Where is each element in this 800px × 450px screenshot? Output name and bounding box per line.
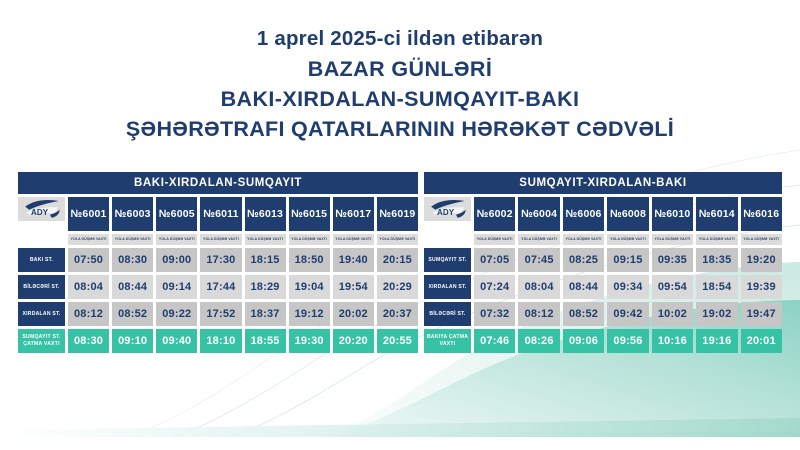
train-number: №6006 bbox=[563, 197, 604, 231]
arrival-time-cell: 19:16 bbox=[696, 329, 737, 353]
time-cell: 08:30 bbox=[112, 248, 153, 272]
time-cell: 08:44 bbox=[112, 275, 153, 299]
departure-label: YOLA DÜŞMƏ VAXTI bbox=[156, 234, 197, 245]
time-cell: 08:04 bbox=[518, 275, 559, 299]
time-cell: 18:15 bbox=[245, 248, 286, 272]
time-cell: 08:04 bbox=[68, 275, 109, 299]
time-cell: 09:34 bbox=[607, 275, 648, 299]
train-number: №6010 bbox=[652, 197, 693, 231]
arrival-label: SUMQAYIT ST. ÇATMA VAXTI bbox=[18, 329, 65, 353]
time-cell: 09:00 bbox=[156, 248, 197, 272]
train-col-0-left: №6001 YOLA DÜŞMƏ VAXTI bbox=[68, 197, 109, 245]
time-cell: 18:29 bbox=[245, 275, 286, 299]
departure-label: YOLA DÜŞMƏ VAXTI bbox=[652, 234, 693, 245]
train-col-2-right: №6006 YOLA DÜŞMƏ VAXTI bbox=[563, 197, 604, 245]
departure-label: YOLA DÜŞMƏ VAXTI bbox=[200, 234, 241, 245]
time-cell: 09:54 bbox=[652, 275, 693, 299]
arrival-time-cell: 18:10 bbox=[200, 329, 241, 353]
svg-text:ADY: ADY bbox=[436, 208, 454, 217]
time-cell: 19:47 bbox=[741, 302, 782, 326]
train-number: №6019 bbox=[377, 197, 418, 231]
time-cell: 18:54 bbox=[696, 275, 737, 299]
table-row: BAKI ST. 07:50 08:30 09:00 17:30 18:15 1… bbox=[18, 248, 418, 272]
table-row: BİLƏCƏRİ ST. 08:04 08:44 09:14 17:44 18:… bbox=[18, 275, 418, 299]
time-cell: 09:35 bbox=[652, 248, 693, 272]
train-number: №6008 bbox=[607, 197, 648, 231]
arrival-time-cell: 09:56 bbox=[607, 329, 648, 353]
table-header-row-right: ADY №6002 YOLA DÜŞMƏ VAXTI №6004 YOLA DÜ… bbox=[424, 197, 782, 245]
bottom-band bbox=[0, 418, 800, 437]
train-col-1-left: №6003 YOLA DÜŞMƏ VAXTI bbox=[112, 197, 153, 245]
table-header-row-left: ADY №6001 YOLA DÜŞMƏ VAXTI №6003 YOLA DÜ… bbox=[18, 197, 418, 245]
ady-logo-cell: ADY bbox=[18, 197, 65, 221]
table-row: BİLƏCƏRİ ST. 07:32 08:12 08:52 09:42 10:… bbox=[424, 302, 782, 326]
time-cell: 19:40 bbox=[333, 248, 374, 272]
time-cell: 09:22 bbox=[156, 302, 197, 326]
departure-label: YOLA DÜŞMƏ VAXTI bbox=[333, 234, 374, 245]
time-cell: 09:15 bbox=[607, 248, 648, 272]
time-cell: 08:25 bbox=[563, 248, 604, 272]
train-number: №6017 bbox=[333, 197, 374, 231]
time-cell: 08:52 bbox=[563, 302, 604, 326]
ady-logo-icon: ADY bbox=[22, 196, 62, 222]
table-grid-left: ADY №6001 YOLA DÜŞMƏ VAXTI №6003 YOLA DÜ… bbox=[18, 197, 418, 353]
departure-label: YOLA DÜŞMƏ VAXTI bbox=[289, 234, 330, 245]
departure-label: YOLA DÜŞMƏ VAXTI bbox=[245, 234, 286, 245]
station-label: BİLƏCƏRİ ST. bbox=[424, 302, 471, 326]
title-day-type: BAZAR GÜNLƏRİ bbox=[0, 54, 800, 84]
table-row: SUMQAYIT ST. 07:05 07:45 08:25 09:15 09:… bbox=[424, 248, 782, 272]
time-cell: 08:12 bbox=[518, 302, 559, 326]
schedule-table-baki-sumqayit: BAKI-XIRDALAN-SUMQAYIT ADY №6001 YOLA DÜ… bbox=[18, 172, 418, 353]
train-number: №6016 bbox=[741, 197, 782, 231]
table-row-arrival: SUMQAYIT ST. ÇATMA VAXTI 08:30 09:10 09:… bbox=[18, 329, 418, 353]
time-cell: 07:32 bbox=[474, 302, 515, 326]
station-label: XIRDALAN ST. bbox=[18, 302, 65, 326]
departure-label: YOLA DÜŞMƏ VAXTI bbox=[474, 234, 515, 245]
time-cell: 19:12 bbox=[289, 302, 330, 326]
departure-label: YOLA DÜŞMƏ VAXTI bbox=[377, 234, 418, 245]
arrival-time-cell: 20:20 bbox=[333, 329, 374, 353]
table-row: XIRDALAN ST. 07:24 08:04 08:44 09:34 09:… bbox=[424, 275, 782, 299]
time-cell: 17:52 bbox=[200, 302, 241, 326]
station-label: XIRDALAN ST. bbox=[424, 275, 471, 299]
time-cell: 09:42 bbox=[607, 302, 648, 326]
time-cell: 07:50 bbox=[68, 248, 109, 272]
train-number: №6002 bbox=[474, 197, 515, 231]
time-cell: 07:05 bbox=[474, 248, 515, 272]
time-cell: 07:45 bbox=[518, 248, 559, 272]
table-grid-right: ADY №6002 YOLA DÜŞMƏ VAXTI №6004 YOLA DÜ… bbox=[424, 197, 782, 353]
departure-label: YOLA DÜŞMƏ VAXTI bbox=[518, 234, 559, 245]
arrival-time-cell: 19:30 bbox=[289, 329, 330, 353]
arrival-time-cell: 07:46 bbox=[474, 329, 515, 353]
train-number: №6011 bbox=[200, 197, 241, 231]
title-effective-date: 1 aprel 2025-ci ildən etibarən bbox=[0, 26, 800, 52]
time-cell: 08:44 bbox=[563, 275, 604, 299]
table-row-arrival: BAKIYA ÇATMA VAXTI 07:46 08:26 09:06 09:… bbox=[424, 329, 782, 353]
time-cell: 10:02 bbox=[652, 302, 693, 326]
arrival-time-cell: 09:06 bbox=[563, 329, 604, 353]
departure-label: YOLA DÜŞMƏ VAXTI bbox=[112, 234, 153, 245]
time-cell: 19:39 bbox=[741, 275, 782, 299]
ady-logo-cell: ADY bbox=[424, 197, 471, 221]
svg-text:ADY: ADY bbox=[30, 208, 48, 217]
arrival-time-cell: 08:30 bbox=[68, 329, 109, 353]
time-cell: 18:35 bbox=[696, 248, 737, 272]
time-cell: 20:15 bbox=[377, 248, 418, 272]
time-cell: 18:37 bbox=[245, 302, 286, 326]
time-cell: 08:12 bbox=[68, 302, 109, 326]
departure-label: YOLA DÜŞMƏ VAXTI bbox=[68, 234, 109, 245]
train-col-5-right: №6014 YOLA DÜŞMƏ VAXTI bbox=[696, 197, 737, 245]
title-block: 1 aprel 2025-ci ildən etibarən BAZAR GÜN… bbox=[0, 26, 800, 144]
time-cell: 17:30 bbox=[200, 248, 241, 272]
departure-label: YOLA DÜŞMƏ VAXTI bbox=[696, 234, 737, 245]
station-label: BİLƏCƏRİ ST. bbox=[18, 275, 65, 299]
arrival-time-cell: 20:01 bbox=[741, 329, 782, 353]
train-col-0-right: №6002 YOLA DÜŞMƏ VAXTI bbox=[474, 197, 515, 245]
time-cell: 19:54 bbox=[333, 275, 374, 299]
arrival-time-cell: 09:40 bbox=[156, 329, 197, 353]
title-subject: ŞƏHƏRƏTRAFI QATARLARININ HƏRƏKƏT CƏDVƏLİ bbox=[0, 114, 800, 144]
arrival-time-cell: 08:26 bbox=[518, 329, 559, 353]
station-label: SUMQAYIT ST. bbox=[424, 248, 471, 272]
departure-label: YOLA DÜŞMƏ VAXTI bbox=[607, 234, 648, 245]
ady-logo-icon: ADY bbox=[428, 196, 468, 222]
departure-label: YOLA DÜŞMƏ VAXTI bbox=[741, 234, 782, 245]
train-number: №6005 bbox=[156, 197, 197, 231]
train-number: №6013 bbox=[245, 197, 286, 231]
table-header-sumqayit-baki: SUMQAYIT-XIRDALAN-BAKI bbox=[424, 172, 782, 194]
time-cell: 17:44 bbox=[200, 275, 241, 299]
time-cell: 18:50 bbox=[289, 248, 330, 272]
time-cell: 07:24 bbox=[474, 275, 515, 299]
train-col-7-left: №6019 YOLA DÜŞMƏ VAXTI bbox=[377, 197, 418, 245]
train-col-6-right: №6016 YOLA DÜŞMƏ VAXTI bbox=[741, 197, 782, 245]
time-cell: 20:02 bbox=[333, 302, 374, 326]
departure-label: YOLA DÜŞMƏ VAXTI bbox=[563, 234, 604, 245]
title-route: BAKI-XIRDALAN-SUMQAYIT-BAKI bbox=[0, 84, 800, 114]
train-number: №6001 bbox=[68, 197, 109, 231]
train-number: №6014 bbox=[696, 197, 737, 231]
time-cell: 09:14 bbox=[156, 275, 197, 299]
train-col-4-right: №6010 YOLA DÜŞMƏ VAXTI bbox=[652, 197, 693, 245]
time-cell: 20:29 bbox=[377, 275, 418, 299]
train-col-2-left: №6005 YOLA DÜŞMƏ VAXTI bbox=[156, 197, 197, 245]
table-header-baki-sumqayit: BAKI-XIRDALAN-SUMQAYIT bbox=[18, 172, 418, 194]
station-label: BAKI ST. bbox=[18, 248, 65, 272]
time-cell: 19:02 bbox=[696, 302, 737, 326]
schedule-table-sumqayit-baki: SUMQAYIT-XIRDALAN-BAKI ADY №6002 YOLA DÜ… bbox=[424, 172, 782, 353]
time-cell: 19:20 bbox=[741, 248, 782, 272]
arrival-time-cell: 18:55 bbox=[245, 329, 286, 353]
time-cell: 19:04 bbox=[289, 275, 330, 299]
train-col-1-right: №6004 YOLA DÜŞMƏ VAXTI bbox=[518, 197, 559, 245]
train-number: №6015 bbox=[289, 197, 330, 231]
train-number: №6004 bbox=[518, 197, 559, 231]
time-cell: 08:52 bbox=[112, 302, 153, 326]
time-cell: 20:37 bbox=[377, 302, 418, 326]
arrival-time-cell: 10:16 bbox=[652, 329, 693, 353]
train-col-3-left: №6011 YOLA DÜŞMƏ VAXTI bbox=[200, 197, 241, 245]
train-col-3-right: №6008 YOLA DÜŞMƏ VAXTI bbox=[607, 197, 648, 245]
infographic-page: 1 aprel 2025-ci ildən etibarən BAZAR GÜN… bbox=[0, 0, 800, 450]
arrival-time-cell: 20:55 bbox=[377, 329, 418, 353]
train-col-5-left: №6015 YOLA DÜŞMƏ VAXTI bbox=[289, 197, 330, 245]
arrival-label: BAKIYA ÇATMA VAXTI bbox=[424, 329, 471, 353]
train-col-6-left: №6017 YOLA DÜŞMƏ VAXTI bbox=[333, 197, 374, 245]
table-row: XIRDALAN ST. 08:12 08:52 09:22 17:52 18:… bbox=[18, 302, 418, 326]
train-col-4-left: №6013 YOLA DÜŞMƏ VAXTI bbox=[245, 197, 286, 245]
train-number: №6003 bbox=[112, 197, 153, 231]
arrival-time-cell: 09:10 bbox=[112, 329, 153, 353]
